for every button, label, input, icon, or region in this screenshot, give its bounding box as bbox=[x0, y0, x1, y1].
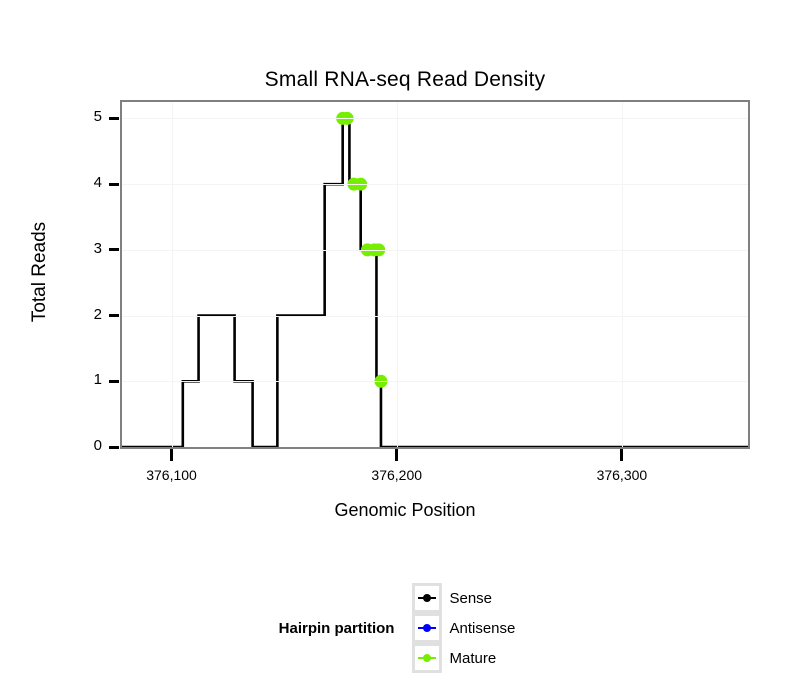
y-axis-tick bbox=[109, 117, 119, 120]
legend-item-mature[interactable]: Mature bbox=[412, 643, 515, 673]
x-axis-label: 376,300 bbox=[562, 467, 682, 483]
chart-title: Small RNA-seq Read Density bbox=[0, 68, 810, 92]
legend-items: SenseAntisenseMature bbox=[412, 583, 531, 673]
gridline-horizontal bbox=[122, 184, 748, 185]
x-axis-label: 376,200 bbox=[337, 467, 457, 483]
series-line-sense bbox=[122, 118, 748, 447]
y-axis-label: 1 bbox=[30, 371, 102, 388]
x-axis-title: Genomic Position bbox=[0, 500, 810, 521]
y-axis-title: Total Reads bbox=[29, 172, 51, 372]
legend-key-dot bbox=[423, 594, 431, 602]
y-axis-label: 4 bbox=[30, 174, 102, 191]
gridline-horizontal bbox=[122, 250, 748, 251]
gridline-horizontal bbox=[122, 316, 748, 317]
legend-label: Antisense bbox=[449, 620, 515, 637]
gridline-vertical bbox=[397, 102, 398, 447]
y-axis-tick bbox=[109, 248, 119, 251]
legend-key-icon bbox=[412, 643, 442, 673]
x-axis-tick bbox=[170, 449, 173, 461]
y-axis-label: 5 bbox=[30, 108, 102, 125]
y-axis-label: 2 bbox=[30, 306, 102, 323]
x-axis-label: 376,100 bbox=[112, 467, 232, 483]
x-axis-tick bbox=[620, 449, 623, 461]
gridline-horizontal bbox=[122, 381, 748, 382]
y-axis-label: 3 bbox=[30, 240, 102, 257]
legend-title: Hairpin partition bbox=[279, 620, 395, 637]
legend-key-dot bbox=[423, 624, 431, 632]
gridline-vertical bbox=[172, 102, 173, 447]
x-axis-tick bbox=[395, 449, 398, 461]
y-axis-tick bbox=[109, 380, 119, 383]
gridline-horizontal bbox=[122, 118, 748, 119]
plot-panel bbox=[120, 100, 750, 449]
y-axis-label: 0 bbox=[30, 437, 102, 454]
plot-area bbox=[122, 102, 748, 447]
legend-label: Sense bbox=[449, 590, 492, 607]
legend-key-icon bbox=[412, 583, 442, 613]
chart-page: Small RNA-seq Read Density Total Reads 0… bbox=[0, 0, 810, 690]
legend-item-sense[interactable]: Sense bbox=[412, 583, 515, 613]
y-axis-tick bbox=[109, 446, 119, 449]
y-axis-tick bbox=[109, 183, 119, 186]
legend: Hairpin partition SenseAntisenseMature bbox=[0, 583, 810, 673]
legend-label: Mature bbox=[449, 650, 496, 667]
data-series-layer bbox=[122, 102, 748, 447]
gridline-vertical bbox=[622, 102, 623, 447]
y-axis-tick bbox=[109, 314, 119, 317]
legend-key-icon bbox=[412, 613, 442, 643]
legend-key-dot bbox=[423, 654, 431, 662]
legend-item-antisense[interactable]: Antisense bbox=[412, 613, 515, 643]
